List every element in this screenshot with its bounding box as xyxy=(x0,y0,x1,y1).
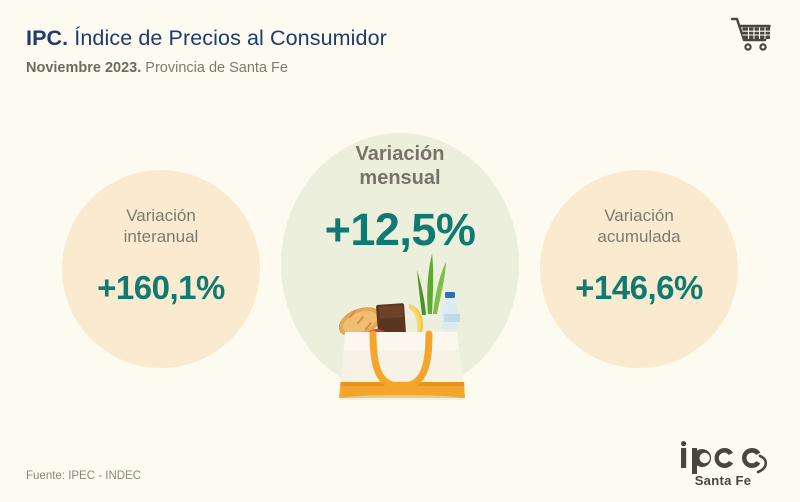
ipec-logo: Santa Fe xyxy=(668,441,778,488)
metric-acumulada: Variación acumulada +146,6% xyxy=(540,206,738,307)
metric-mensual: Variación mensual +12,5% xyxy=(281,142,519,256)
green-onion-icon xyxy=(417,254,446,315)
ipec-logo-subtitle: Santa Fe xyxy=(668,473,778,488)
source-note: Fuente: IPEC - INDEC xyxy=(26,470,141,482)
ipec-logo-mark xyxy=(668,441,778,475)
metric-interanual-label: Variación interanual xyxy=(62,206,260,247)
metric-mensual-label: Variación mensual xyxy=(281,142,519,190)
metric-acumulada-value: +146,6% xyxy=(540,269,738,307)
metric-interanual-label-line1: Variación xyxy=(126,206,196,225)
grocery-bag-illustration xyxy=(333,248,473,400)
metric-mensual-label-line1: Variación xyxy=(356,143,445,165)
metric-acumulada-label: Variación acumulada xyxy=(540,206,738,247)
bottle-icon xyxy=(442,292,460,330)
metric-mensual-label-line2: mensual xyxy=(359,167,440,189)
metric-acumulada-label-line2: acumulada xyxy=(597,227,680,246)
metric-acumulada-label-line1: Variación xyxy=(604,206,674,225)
metric-interanual-label-line2: interanual xyxy=(124,227,199,246)
metric-interanual: Variación interanual +160,1% xyxy=(62,206,260,307)
metric-interanual-value: +160,1% xyxy=(62,269,260,307)
